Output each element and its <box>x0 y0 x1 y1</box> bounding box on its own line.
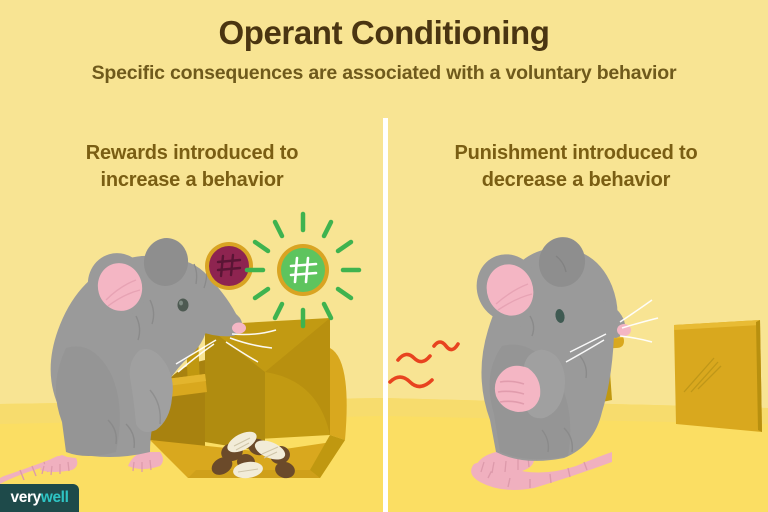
shock-panel <box>674 320 762 432</box>
panel-reinforcement: Rewards introduced to increase a behavio… <box>0 0 384 512</box>
infographic-canvas: Operant Conditioning Specific consequenc… <box>0 0 768 512</box>
logo-text-very: very <box>11 489 41 506</box>
panel-divider <box>383 118 388 512</box>
light-grid-icon <box>205 242 253 290</box>
panel-heading-line-1: Rewards introduced to <box>86 142 299 164</box>
panel-punishment: Punishment introduced to decrease a beha… <box>384 0 768 512</box>
panel-heading-reinforcement: Rewards introduced to increase a behavio… <box>0 140 384 194</box>
panel-heading-line-2: decrease a behavior <box>482 169 671 191</box>
logo-text-well: well <box>41 489 69 506</box>
logo-text: verywell <box>11 489 69 507</box>
reward-light-on <box>277 244 329 296</box>
light-grid-icon <box>277 244 329 296</box>
reward-light-off <box>205 242 253 290</box>
verywell-logo[interactable]: verywell <box>0 484 79 512</box>
panel-heading-punishment: Punishment introduced to decrease a beha… <box>384 140 768 194</box>
right-scene-art <box>384 0 768 512</box>
pain-squiggles-paw <box>390 342 458 387</box>
panel-heading-line-1: Punishment introduced to <box>455 142 698 164</box>
panel-heading-line-2: increase a behavior <box>101 169 284 191</box>
